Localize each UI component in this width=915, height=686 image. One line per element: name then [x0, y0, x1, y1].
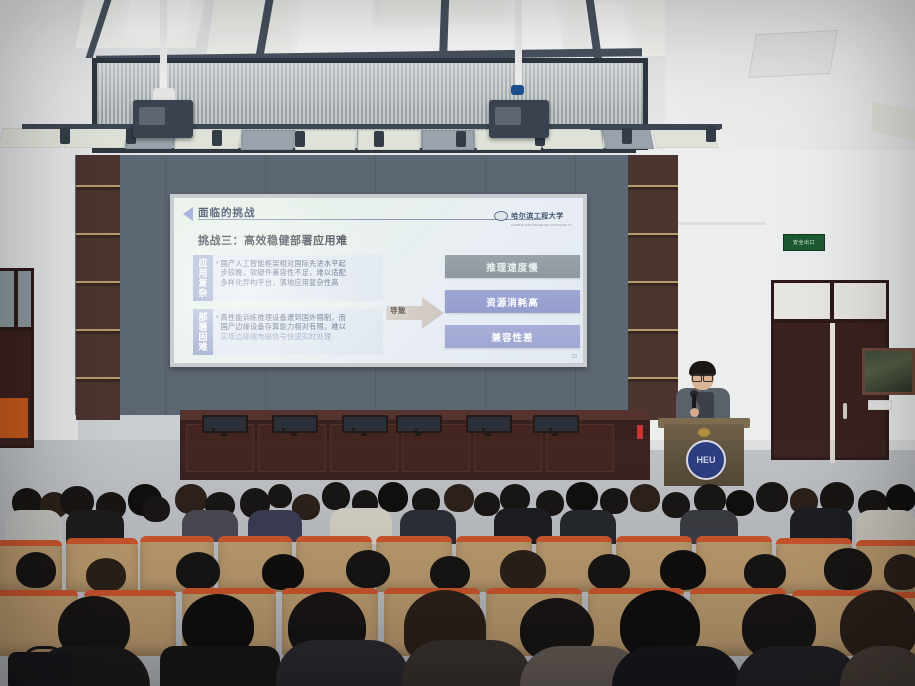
slide-content: 面临的挑战 哈尔滨工程大学 HARBIN ENGINEERING UNIVERS… — [174, 198, 583, 363]
audience-head — [660, 550, 706, 590]
projection-screen: 面临的挑战 哈尔滨工程大学 HARBIN ENGINEERING UNIVERS… — [170, 194, 587, 367]
ceiling-projector — [133, 100, 193, 138]
lecture-hall-photo: 面临的挑战 哈尔滨工程大学 HARBIN ENGINEERING UNIVERS… — [0, 0, 915, 686]
slide-page-number: 23 — [571, 354, 577, 360]
audience-torso-foreground — [402, 640, 532, 686]
left-door-reflection — [0, 398, 28, 438]
delegate-monitor — [272, 415, 318, 433]
desk-microphone — [415, 428, 418, 434]
podium-ornament — [698, 428, 710, 437]
audience-area — [0, 440, 915, 686]
skylight-glare — [518, 0, 558, 40]
wall-outlet[interactable] — [868, 400, 892, 410]
slide-subtitle: 挑战三：高效稳健部署应用难 — [198, 232, 574, 248]
ceiling-tile-row — [0, 128, 770, 150]
audience-head — [142, 496, 170, 522]
header-divider — [198, 219, 543, 220]
desk-microphone — [549, 428, 552, 434]
consequence-box-poor-compatibility: 兼容性差 — [445, 325, 580, 348]
door-handle[interactable] — [843, 403, 847, 419]
delegate-monitor — [202, 415, 248, 433]
desk-microphone — [212, 428, 215, 434]
wood-acoustic-panel-left — [76, 155, 120, 420]
track-spotlight — [60, 128, 70, 144]
audience-head — [886, 484, 915, 512]
audience-torso-foreground — [276, 640, 410, 686]
challenge-text: 国产人工智能框架相对国际先进水平起 步较晚，软硬件兼容性不足，难以适配 多样化异… — [220, 259, 346, 297]
causes-arrow: 导致 — [386, 291, 444, 335]
tag-char: 复 — [198, 278, 207, 288]
header-triangle-icon — [183, 207, 193, 221]
slide-canvas: 面临的挑战 哈尔滨工程大学 HARBIN ENGINEERING UNIVERS… — [174, 198, 583, 363]
speaker-glasses — [692, 374, 713, 380]
audience-torso-foreground — [160, 646, 280, 686]
challenge-text-line: 多样化异构平台，落地应用复杂性高 — [220, 278, 346, 287]
tag-char: 部 — [198, 312, 207, 322]
audience-head — [322, 482, 350, 510]
audience-head — [378, 482, 408, 512]
tag-char: 难 — [198, 342, 207, 352]
desk-microphone — [282, 428, 285, 434]
university-seal-icon — [494, 211, 508, 221]
university-name-en: HARBIN ENGINEERING UNIVERSITY — [511, 223, 572, 227]
consequence-list: 推理速度慢 资源消耗高 兼容性差 — [445, 255, 580, 360]
skylight-glare — [125, 0, 191, 34]
audience-head — [346, 550, 390, 588]
wood-acoustic-panel-right — [628, 155, 678, 420]
challenge-body: • 国产人工智能框架相对国际先进水平起 步较晚，软硬件兼容性不足，难以适配 多样… — [213, 255, 383, 301]
lighting-track — [590, 126, 720, 130]
delegate-monitor — [396, 415, 442, 433]
audience-head — [444, 484, 474, 512]
audience-head — [268, 484, 292, 508]
university-name-cn: 哈尔滨工程大学 — [511, 213, 564, 220]
audience-head — [500, 550, 546, 590]
tag-char: 用 — [198, 268, 207, 278]
room-background: 面临的挑战 哈尔滨工程大学 HARBIN ENGINEERING UNIVERS… — [0, 0, 915, 686]
exit-sign-label-cn: 安全出口 — [793, 239, 815, 246]
projector-mount-rod — [160, 0, 167, 92]
audience-head — [756, 482, 788, 512]
track-spotlight — [295, 131, 305, 147]
bag-handle — [22, 646, 66, 663]
track-spotlight — [706, 126, 716, 142]
track-spotlight — [374, 131, 384, 147]
challenge-text-line: 步较晚，软硬件兼容性不足，难以适配 — [220, 268, 346, 277]
challenge-tag-application-complexity: 应 用 复 杂 — [193, 255, 213, 301]
slide-header-title: 面临的挑战 — [198, 205, 256, 220]
audience-head — [430, 556, 470, 590]
audience-head — [566, 482, 598, 512]
exit-sign: 安全出口 — [783, 234, 825, 251]
challenge-row: 应 用 复 杂 • 国产人工智能框架相对国际先进水平起 步较晚，软硬件 — [193, 255, 383, 301]
audience-head — [744, 554, 786, 590]
consequence-box-slow-inference: 推理速度慢 — [445, 255, 580, 278]
delegate-monitor — [466, 415, 512, 433]
wall-picture-frame — [862, 348, 915, 395]
audience-head — [176, 552, 220, 590]
delegate-monitor — [533, 415, 579, 433]
wall-picture-image — [865, 351, 912, 392]
track-spotlight — [456, 131, 466, 147]
projector-indicator — [511, 85, 524, 95]
consequence-box-high-resource-usage: 资源消耗高 — [445, 290, 580, 313]
slide-body: 应 用 复 杂 • 国产人工智能框架相对国际先进水平起 步较晚，软硬件 — [183, 255, 574, 363]
challenge-text-line: 实现边缘端电磁信号快速实时处理 — [220, 332, 346, 341]
audience-head — [262, 554, 304, 590]
track-spotlight — [622, 128, 632, 144]
audience-head — [630, 484, 660, 512]
tag-char: 署 — [198, 322, 207, 332]
audience-head — [86, 558, 126, 592]
ceiling-vent — [748, 30, 838, 78]
audience-torso — [856, 510, 915, 544]
challenge-body: • 高性能训练推理设备遭到国外限制，而 国产边缘设备存算能力相对有限，难以 实现… — [213, 309, 383, 355]
challenge-text-line: 高性能训练推理设备遭到国外限制，而 — [220, 313, 346, 322]
audience-torso-foreground — [612, 646, 742, 686]
projector-mount-rod — [515, 0, 522, 92]
challenge-text: 高性能训练推理设备遭到国外限制，而 国产边缘设备存算能力相对有限，难以 实现边缘… — [220, 313, 346, 351]
desk-microphone — [482, 428, 485, 434]
challenge-text-line: 国产边缘设备存算能力相对有限，难以 — [220, 322, 346, 331]
university-logo-text-wrap: 哈尔滨工程大学 HARBIN ENGINEERING UNIVERSITY — [511, 205, 572, 227]
challenge-text-line: 国产人工智能框架相对国际先进水平起 — [220, 259, 346, 268]
tag-char: 应 — [198, 258, 207, 268]
university-logo: 哈尔滨工程大学 HARBIN ENGINEERING UNIVERSITY — [494, 205, 572, 227]
arrow-label: 导致 — [390, 305, 406, 316]
door-transom-glass — [774, 283, 886, 323]
tag-char: 困 — [198, 332, 207, 342]
audience-head — [588, 554, 630, 590]
ceiling-projector — [489, 100, 549, 138]
tag-char: 杂 — [198, 288, 207, 298]
water-bottle — [637, 425, 643, 439]
speaker-hand — [690, 408, 699, 417]
challenge-row: 部 署 困 难 • 高性能训练推理设备遭到国外限制，而 国产边缘设备存 — [193, 309, 383, 355]
audience-torso — [6, 510, 62, 544]
challenge-tag-deployment-difficulty: 部 署 困 难 — [193, 309, 213, 355]
challenge-list: 应 用 复 杂 • 国产人工智能框架相对国际先进水平起 步较晚，软硬件 — [193, 255, 383, 363]
audience-head — [824, 548, 872, 590]
delegate-monitor — [342, 415, 388, 433]
audience-head — [884, 554, 915, 590]
slide-header: 面临的挑战 哈尔滨工程大学 HARBIN ENGINEERING UNIVERS… — [183, 205, 574, 231]
track-spotlight — [212, 130, 222, 146]
desk-microphone — [352, 428, 355, 434]
audience-head — [16, 552, 56, 588]
